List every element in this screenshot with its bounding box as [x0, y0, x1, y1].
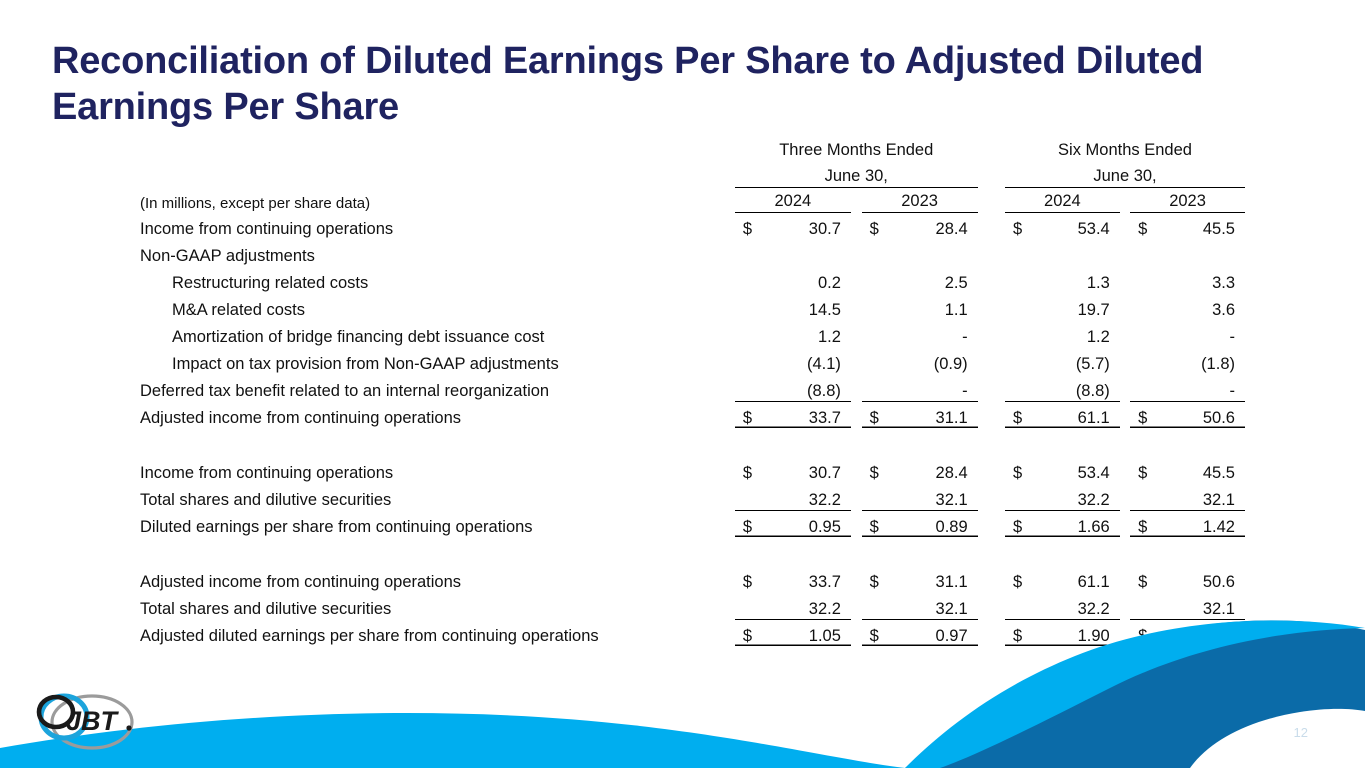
currency-symbol — [735, 293, 771, 320]
table-row: M&A related costs14.51.119.73.6 — [140, 293, 1245, 320]
year-header-6m-2023: 2023 — [1130, 187, 1245, 212]
cell-value: 32.1 — [1165, 592, 1245, 619]
column-gap — [978, 239, 1005, 266]
column-gap — [1120, 293, 1130, 320]
cell-value: 14.5 — [770, 293, 850, 320]
row-label: Income from continuing operations — [140, 212, 735, 239]
column-gap — [978, 428, 1005, 456]
cell-value: 32.1 — [1165, 483, 1245, 510]
cell-value: 1.1 — [897, 293, 977, 320]
currency-symbol: $ — [735, 212, 771, 239]
column-gap — [851, 212, 862, 239]
row-label: Diluted earnings per share from continui… — [140, 510, 735, 537]
currency-symbol: $ — [862, 510, 898, 537]
row-label: Deferred tax benefit related to an inter… — [140, 374, 735, 401]
column-gap — [1120, 347, 1130, 374]
currency-symbol: $ — [735, 619, 771, 646]
currency-symbol — [1130, 483, 1165, 510]
row-label — [140, 537, 735, 565]
currency-symbol — [735, 239, 771, 266]
currency-symbol: $ — [1130, 619, 1165, 646]
currency-symbol: $ — [1130, 565, 1165, 592]
column-gap — [978, 592, 1005, 619]
logo-registered-icon — [126, 725, 131, 730]
column-gap — [978, 266, 1005, 293]
column-gap — [1120, 401, 1130, 428]
currency-symbol — [862, 239, 898, 266]
table-row: Adjusted diluted earnings per share from… — [140, 619, 1245, 646]
row-label: Restructuring related costs — [140, 266, 735, 293]
table-row: Income from continuing operations$30.7$2… — [140, 456, 1245, 483]
column-gap — [851, 320, 862, 347]
cell-value: 1.3 — [1040, 266, 1120, 293]
cell-value: 1.66 — [1040, 510, 1120, 537]
column-gap — [978, 401, 1005, 428]
currency-symbol: $ — [1005, 565, 1040, 592]
currency-symbol — [735, 592, 771, 619]
currency-symbol — [1005, 293, 1040, 320]
column-gap — [978, 510, 1005, 537]
currency-symbol — [862, 592, 898, 619]
cell-value: 0.95 — [770, 510, 850, 537]
column-gap — [851, 565, 862, 592]
cell-value: 33.7 — [770, 565, 850, 592]
cell-value: 53.4 — [1040, 456, 1120, 483]
currency-symbol — [862, 537, 898, 565]
column-gap — [851, 456, 862, 483]
currency-symbol — [735, 428, 771, 456]
currency-symbol — [862, 266, 898, 293]
row-label: Adjusted income from continuing operatio… — [140, 401, 735, 428]
cell-value — [770, 537, 850, 565]
currency-symbol: $ — [1005, 456, 1040, 483]
group-header-line2-row: June 30, June 30, — [140, 161, 1245, 187]
reconciliation-table: Three Months Ended Six Months Ended June… — [140, 136, 1245, 646]
currency-symbol — [735, 483, 771, 510]
cell-value: 32.2 — [1040, 592, 1120, 619]
column-gap — [978, 456, 1005, 483]
currency-symbol — [1005, 374, 1040, 401]
currency-symbol — [735, 347, 771, 374]
column-gap — [851, 266, 862, 293]
cell-value: 32.2 — [770, 483, 850, 510]
cell-value: 31.1 — [897, 565, 977, 592]
cell-value — [1040, 428, 1120, 456]
currency-symbol: $ — [862, 619, 898, 646]
currency-symbol — [1130, 293, 1165, 320]
cell-value: 0.97 — [897, 619, 977, 646]
year-header-3m-2023: 2023 — [862, 187, 978, 212]
currency-symbol — [1130, 347, 1165, 374]
currency-symbol — [1005, 592, 1040, 619]
cell-value: 19.7 — [1040, 293, 1120, 320]
cell-value: 50.6 — [1165, 565, 1245, 592]
table-row: Non-GAAP adjustments — [140, 239, 1245, 266]
column-gap — [978, 374, 1005, 401]
column-gap — [851, 510, 862, 537]
cell-value: 45.5 — [1165, 212, 1245, 239]
cell-value: 0.89 — [897, 510, 977, 537]
column-gap — [851, 592, 862, 619]
column-gap — [978, 212, 1005, 239]
table-row: Diluted earnings per share from continui… — [140, 510, 1245, 537]
column-gap — [978, 320, 1005, 347]
row-label: Impact on tax provision from Non-GAAP ad… — [140, 347, 735, 374]
currency-symbol — [1130, 266, 1165, 293]
cell-value: 1.58 — [1165, 619, 1245, 646]
cell-value: 2.5 — [897, 266, 977, 293]
currency-symbol — [1005, 428, 1040, 456]
column-gap — [978, 619, 1005, 646]
currency-symbol — [862, 483, 898, 510]
currency-symbol: $ — [862, 565, 898, 592]
table-row — [140, 428, 1245, 456]
row-label: Income from continuing operations — [140, 456, 735, 483]
currency-symbol: $ — [1005, 401, 1040, 428]
cell-value: 61.1 — [1040, 401, 1120, 428]
cell-value: 32.2 — [1040, 483, 1120, 510]
currency-symbol — [862, 293, 898, 320]
column-gap — [851, 347, 862, 374]
row-label: Adjusted diluted earnings per share from… — [140, 619, 735, 646]
currency-symbol — [1005, 239, 1040, 266]
cell-value — [897, 239, 977, 266]
table-row: Restructuring related costs0.22.51.33.3 — [140, 266, 1245, 293]
cell-value: 0.2 — [770, 266, 850, 293]
column-gap — [1120, 483, 1130, 510]
cell-value: 3.3 — [1165, 266, 1245, 293]
row-label: Non-GAAP adjustments — [140, 239, 735, 266]
year-header-row: (In millions, except per share data) 202… — [140, 187, 1245, 212]
cell-value: 1.42 — [1165, 510, 1245, 537]
cell-value — [770, 428, 850, 456]
currency-symbol — [1005, 537, 1040, 565]
cell-value: 1.90 — [1040, 619, 1120, 646]
column-gap — [1120, 537, 1130, 565]
cell-value: 30.7 — [770, 212, 850, 239]
currency-symbol — [1130, 320, 1165, 347]
cell-value: - — [897, 374, 977, 401]
group-header-line1-row: Three Months Ended Six Months Ended — [140, 136, 1245, 161]
column-gap — [1120, 510, 1130, 537]
group-header-three-months-line2: June 30, — [735, 161, 978, 187]
cell-value: 50.6 — [1165, 401, 1245, 428]
currency-symbol: $ — [1130, 510, 1165, 537]
currency-symbol: $ — [1005, 510, 1040, 537]
cell-value: 31.1 — [897, 401, 977, 428]
table-row: Deferred tax benefit related to an inter… — [140, 374, 1245, 401]
currency-symbol — [862, 428, 898, 456]
page-number: 12 — [1294, 725, 1308, 740]
column-gap — [851, 374, 862, 401]
cell-value: (5.7) — [1040, 347, 1120, 374]
table-row: Total shares and dilutive securities32.2… — [140, 592, 1245, 619]
logo-wordmark: JBT — [66, 706, 120, 736]
units-note: (In millions, except per share data) — [140, 187, 735, 212]
row-label: Amortization of bridge financing debt is… — [140, 320, 735, 347]
header-spacer — [140, 136, 735, 161]
currency-symbol: $ — [862, 456, 898, 483]
table-row: Amortization of bridge financing debt is… — [140, 320, 1245, 347]
row-label: Adjusted income from continuing operatio… — [140, 565, 735, 592]
currency-symbol — [1130, 374, 1165, 401]
column-gap — [851, 293, 862, 320]
column-gap — [1120, 212, 1130, 239]
currency-symbol: $ — [1130, 401, 1165, 428]
cell-value: - — [1165, 374, 1245, 401]
table-row: Income from continuing operations$30.7$2… — [140, 212, 1245, 239]
header-spacer — [140, 161, 735, 187]
cell-value: 1.05 — [770, 619, 850, 646]
table-row: Impact on tax provision from Non-GAAP ad… — [140, 347, 1245, 374]
currency-symbol — [1130, 537, 1165, 565]
column-gap — [1120, 456, 1130, 483]
cell-value: 45.5 — [1165, 456, 1245, 483]
header-gap — [978, 161, 1005, 187]
table-row — [140, 537, 1245, 565]
column-gap — [1120, 619, 1130, 646]
currency-symbol — [862, 320, 898, 347]
column-gap — [978, 483, 1005, 510]
cell-value: (0.9) — [897, 347, 977, 374]
cell-value — [1165, 537, 1245, 565]
jbt-logo: JBT — [30, 690, 160, 752]
column-gap — [978, 347, 1005, 374]
currency-symbol: $ — [1005, 212, 1040, 239]
column-gap — [1120, 565, 1130, 592]
cell-value — [1165, 428, 1245, 456]
header-gap — [851, 187, 862, 212]
table-header: Three Months Ended Six Months Ended June… — [140, 136, 1245, 212]
currency-symbol: $ — [862, 401, 898, 428]
row-label — [140, 428, 735, 456]
currency-symbol — [1130, 428, 1165, 456]
currency-symbol — [1005, 320, 1040, 347]
currency-symbol — [735, 320, 771, 347]
cell-value: 3.6 — [1165, 293, 1245, 320]
cell-value: 32.2 — [770, 592, 850, 619]
currency-symbol: $ — [735, 456, 771, 483]
cell-value: (4.1) — [770, 347, 850, 374]
group-header-six-months-line2: June 30, — [1005, 161, 1245, 187]
wave-white-crescent — [1190, 709, 1365, 768]
column-gap — [978, 537, 1005, 565]
column-gap — [1120, 592, 1130, 619]
cell-value: 28.4 — [897, 212, 977, 239]
cell-value — [1040, 537, 1120, 565]
cell-value: (8.8) — [1040, 374, 1120, 401]
cell-value: 28.4 — [897, 456, 977, 483]
column-gap — [978, 293, 1005, 320]
table-body: Income from continuing operations$30.7$2… — [140, 212, 1245, 646]
currency-symbol — [862, 347, 898, 374]
cell-value: 53.4 — [1040, 212, 1120, 239]
currency-symbol: $ — [862, 212, 898, 239]
group-header-six-months-line1: Six Months Ended — [1005, 136, 1245, 161]
cell-value: 1.2 — [1040, 320, 1120, 347]
year-header-3m-2024: 2024 — [735, 187, 851, 212]
column-gap — [1120, 239, 1130, 266]
cell-value — [897, 537, 977, 565]
currency-symbol: $ — [735, 510, 771, 537]
cell-value: 32.1 — [897, 592, 977, 619]
column-gap — [851, 619, 862, 646]
header-gap — [978, 136, 1005, 161]
currency-symbol: $ — [1130, 212, 1165, 239]
currency-symbol — [735, 537, 771, 565]
column-gap — [851, 537, 862, 565]
currency-symbol — [735, 266, 771, 293]
cell-value: 1.2 — [770, 320, 850, 347]
currency-symbol — [862, 374, 898, 401]
header-gap — [1120, 187, 1130, 212]
column-gap — [851, 401, 862, 428]
row-label: Total shares and dilutive securities — [140, 483, 735, 510]
column-gap — [1120, 374, 1130, 401]
row-label: M&A related costs — [140, 293, 735, 320]
cell-value: (8.8) — [770, 374, 850, 401]
currency-symbol — [1005, 483, 1040, 510]
year-header-6m-2024: 2024 — [1005, 187, 1120, 212]
cell-value — [1165, 239, 1245, 266]
cell-value: - — [897, 320, 977, 347]
column-gap — [851, 239, 862, 266]
cell-value: 32.1 — [897, 483, 977, 510]
cell-value: 61.1 — [1040, 565, 1120, 592]
currency-symbol — [1005, 347, 1040, 374]
currency-symbol — [735, 374, 771, 401]
cell-value: - — [1165, 320, 1245, 347]
currency-symbol: $ — [1130, 456, 1165, 483]
row-label: Total shares and dilutive securities — [140, 592, 735, 619]
cell-value: (1.8) — [1165, 347, 1245, 374]
table-row: Adjusted income from continuing operatio… — [140, 565, 1245, 592]
column-gap — [1120, 266, 1130, 293]
table-row: Total shares and dilutive securities32.2… — [140, 483, 1245, 510]
cell-value — [1040, 239, 1120, 266]
column-gap — [851, 428, 862, 456]
currency-symbol: $ — [735, 401, 771, 428]
column-gap — [1120, 428, 1130, 456]
currency-symbol — [1005, 266, 1040, 293]
column-gap — [851, 483, 862, 510]
currency-symbol — [1130, 239, 1165, 266]
table-row: Adjusted income from continuing operatio… — [140, 401, 1245, 428]
header-gap — [978, 187, 1005, 212]
group-header-three-months-line1: Three Months Ended — [735, 136, 978, 161]
column-gap — [1120, 320, 1130, 347]
cell-value: 30.7 — [770, 456, 850, 483]
page-title: Reconciliation of Diluted Earnings Per S… — [52, 38, 1252, 131]
currency-symbol: $ — [1005, 619, 1040, 646]
cell-value — [770, 239, 850, 266]
currency-symbol: $ — [735, 565, 771, 592]
cell-value: 33.7 — [770, 401, 850, 428]
currency-symbol — [1130, 592, 1165, 619]
column-gap — [978, 565, 1005, 592]
cell-value — [897, 428, 977, 456]
